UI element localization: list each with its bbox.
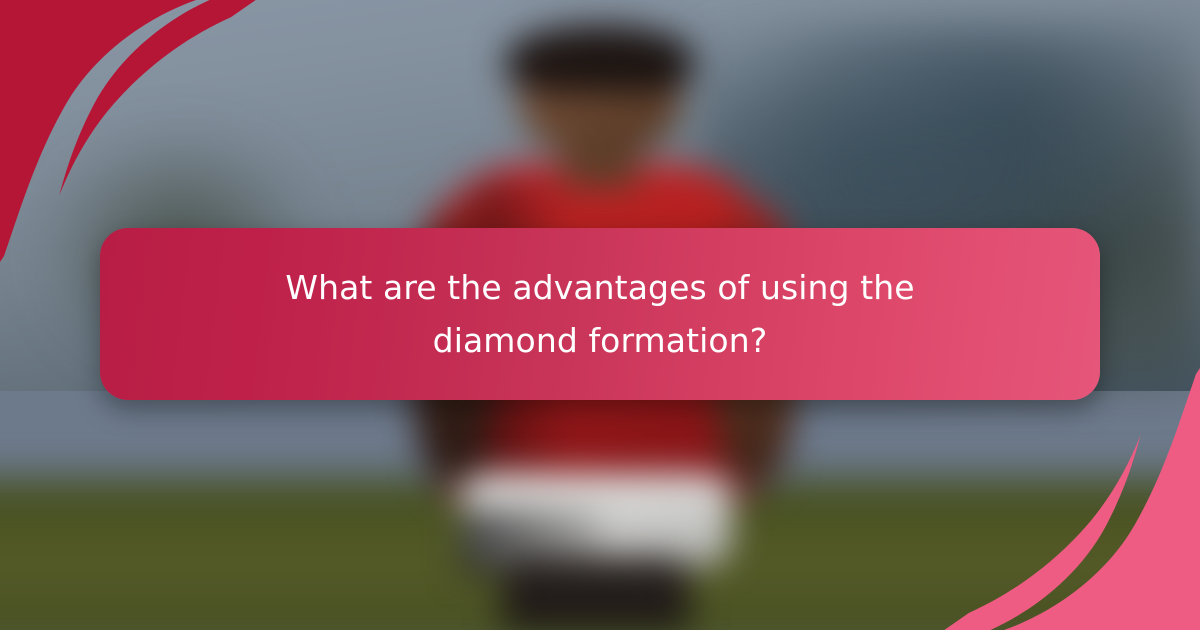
player-legs bbox=[502, 557, 690, 630]
question-banner: What are the advantages of using the dia… bbox=[100, 228, 1100, 400]
question-card: What are the advantages of using the dia… bbox=[0, 0, 1200, 630]
player-hair bbox=[506, 25, 694, 92]
question-text: What are the advantages of using the dia… bbox=[250, 261, 950, 368]
